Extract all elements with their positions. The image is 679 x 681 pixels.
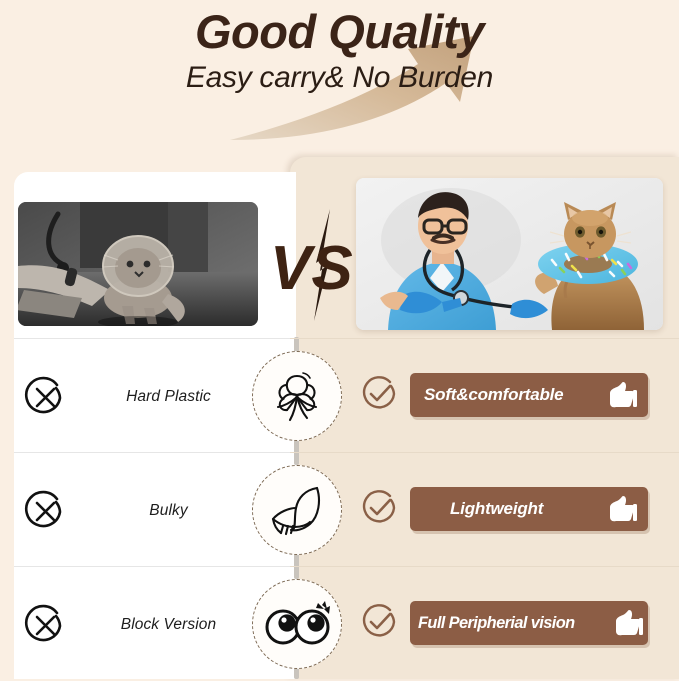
comparison-rows: Hard Plastic	[0, 0, 679, 679]
positive-feature-pill[interactable]: Full Peripherial vision	[410, 601, 648, 645]
cotton-flower-icon	[252, 351, 342, 441]
positive-feature-pill[interactable]: Soft&comfortable	[410, 373, 648, 417]
positive-feature-label: Soft&comfortable	[424, 385, 563, 405]
row-divider-1	[14, 338, 296, 339]
circle-x-icon	[24, 490, 66, 532]
thumbs-up-icon	[608, 495, 638, 523]
positive-feature-pill[interactable]: Lightweight	[410, 487, 648, 531]
negative-feature-label: Hard Plastic	[86, 388, 251, 406]
circle-x-icon	[24, 376, 66, 418]
infographic-root: Good Quality Easy carry& No Burden	[0, 0, 679, 679]
comparison-row: Hard Plastic	[0, 340, 679, 453]
circle-x-icon	[24, 604, 66, 646]
comparison-row: Bulky	[0, 454, 679, 567]
negative-feature-label: Block Version	[86, 616, 251, 634]
thumbs-up-icon	[608, 381, 638, 409]
negative-feature-label: Bulky	[86, 502, 251, 520]
positive-feature-label: Full Peripherial vision	[418, 614, 575, 633]
row-divider-right-1	[290, 338, 679, 339]
positive-feature-label: Lightweight	[450, 499, 543, 519]
circle-check-icon	[360, 489, 398, 527]
thumbs-up-icon	[614, 609, 644, 637]
feather-icon	[252, 465, 342, 555]
circle-check-icon	[360, 375, 398, 413]
circle-check-icon	[360, 603, 398, 641]
comparison-row: Block Version	[0, 568, 679, 681]
wide-open-eyes-icon	[252, 579, 342, 669]
